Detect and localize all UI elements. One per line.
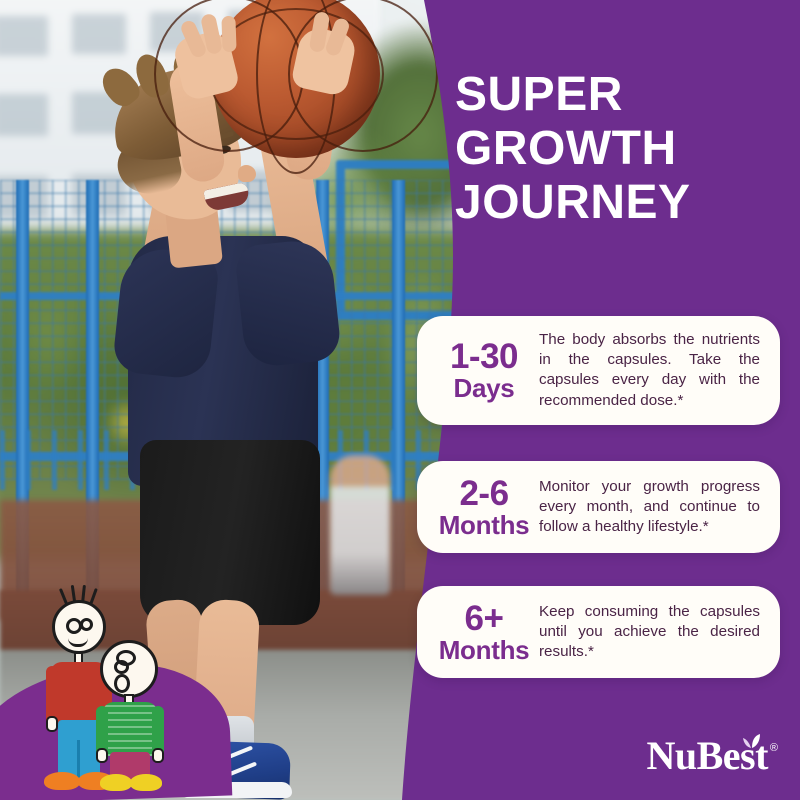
timeline-card-3-description: Keep consuming the capsules until you ac… [539,602,760,663]
timeline-card-3-unit: Months [435,637,533,664]
timeline-card-2-description: Monitor your growth progress every month… [539,477,760,538]
timeline-card-1-duration: 1-30 [435,339,533,375]
leaf-icon [742,732,762,755]
registered-trademark-symbol: ® [770,742,778,754]
timeline-card-3-duration: 6+ [435,601,533,637]
timeline-card-list: 1-30 Days The body absorbs the nutrients… [0,0,800,800]
brand-logo[interactable]: NuBest ® [646,736,778,776]
timeline-card-2[interactable]: 2-6 Months Monitor your growth progress … [417,461,780,553]
timeline-card-1-description: The body absorbs the nutrients in the ca… [539,330,760,411]
timeline-card-2-unit: Months [435,512,533,539]
timeline-card-1-unit: Days [435,375,533,402]
timeline-card-3[interactable]: 6+ Months Keep consuming the capsules un… [417,586,780,678]
timeline-card-2-term: 2-6 Months [435,476,539,538]
timeline-card-1[interactable]: 1-30 Days The body absorbs the nutrients… [417,316,780,425]
timeline-card-2-duration: 2-6 [435,476,533,512]
infographic-canvas: SUPER GROWTH JOURNEY 1-30 Days The body … [0,0,800,800]
timeline-card-3-term: 6+ Months [435,601,539,663]
timeline-card-1-term: 1-30 Days [435,339,539,401]
